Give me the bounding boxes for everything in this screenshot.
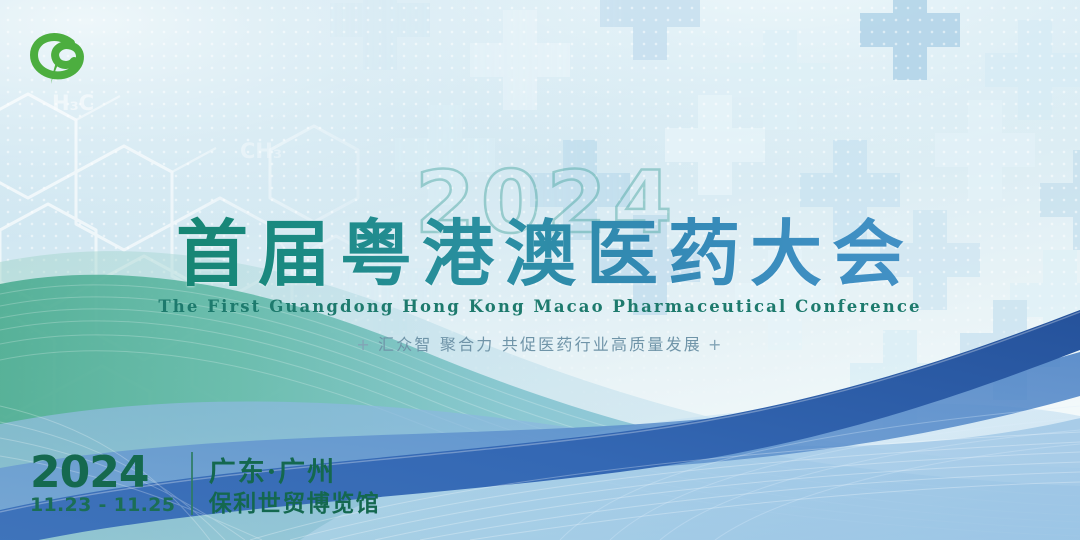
event-date-block: 2024 11.23 - 11.25 [30,452,191,518]
info-divider [191,452,193,515]
brand-logo-icon[interactable] [26,26,98,90]
tagline-ornament-right: + [702,335,730,354]
headline-block: 首届粤港澳医药大会 The First Guangdong Hong Kong … [0,215,1080,355]
event-city: 广东·广州 [209,457,381,489]
tagline-ornament-left: + [350,335,378,354]
conference-banner: H₃C CH₃ CH₃ CH₃ [0,0,1080,540]
tagline: +汇众智 聚合力 共促医药行业高质量发展+ [0,331,1080,355]
page-title: 首届粤港澳医药大会 [0,215,1080,293]
tagline-text: 汇众智 聚合力 共促医药行业高质量发展 [378,335,702,354]
event-venue: 保利世贸博览馆 [209,490,381,518]
event-date-range: 11.23 - 11.25 [30,494,175,518]
english-subtitle: The First Guangdong Hong Kong Macao Phar… [0,297,1080,316]
event-info: 2024 11.23 - 11.25 广东·广州 保利世贸博览馆 [30,452,380,518]
event-place-block: 广东·广州 保利世贸博览馆 [193,457,381,518]
event-year: 2024 [30,452,175,494]
